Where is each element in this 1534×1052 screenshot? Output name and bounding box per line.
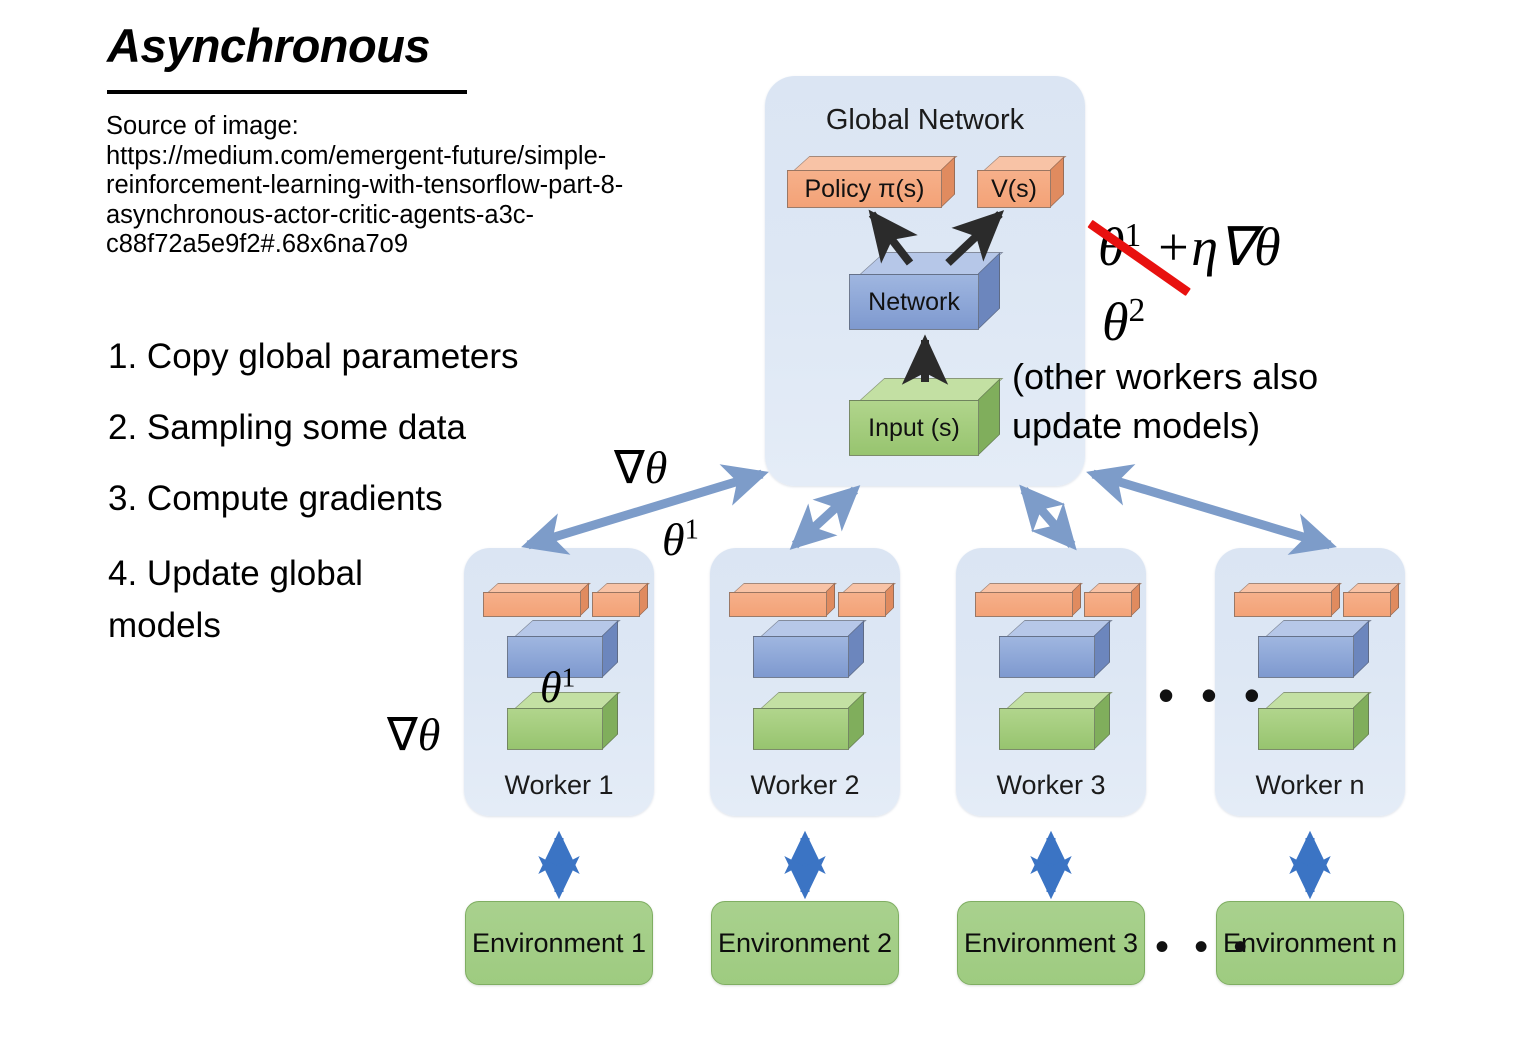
worker-1-value-box [592, 583, 640, 617]
environment-box-3: Environment 3 [957, 901, 1145, 985]
arrow-global-worker-3 [1024, 490, 1072, 545]
step-item-2: 2. Sampling some data [108, 406, 668, 450]
worker-label-n: Worker n [1215, 770, 1405, 801]
worker-label-1: Worker 1 [464, 770, 654, 801]
worker-n-input-face [1258, 708, 1354, 750]
theta-one-worker-label: θ1 [540, 662, 575, 713]
grad-theta-bottom-label: ∇θ [387, 707, 440, 761]
worker-2-network-box [753, 620, 849, 678]
worker-n-network-box [1258, 620, 1354, 678]
equation-replacement: θ2 [1102, 291, 1145, 353]
step-item-3: 3. Compute gradients [108, 477, 668, 521]
worker-1-value-face [592, 592, 640, 617]
worker-3-network-box [999, 620, 1095, 678]
worker-3-input-face [999, 708, 1095, 750]
worker-3-value-box [1084, 583, 1132, 617]
worker-1-policy-box [483, 583, 581, 617]
worker-2-policy-box [729, 583, 827, 617]
worker-n-network-face [1258, 636, 1354, 678]
source-label: Source of image: [106, 112, 299, 140]
theta-worker-exponent: 1 [562, 662, 576, 692]
global-network-label: Global Network [765, 104, 1085, 137]
arrow-global-worker-2 [795, 490, 855, 545]
worker-label-3: Worker 3 [956, 770, 1146, 801]
workers-ellipsis: • • • [1158, 668, 1267, 722]
equation-line: θ1 +η∇θ [1098, 215, 1281, 278]
worker-n-value-face [1343, 592, 1391, 617]
theta-one-arrow-label: θ1 [662, 513, 699, 566]
source-credit: Source of image: https://medium.com/emer… [106, 112, 746, 260]
theta-update-equation: θ1 +η∇θ θ2 [1098, 215, 1281, 278]
worker-n-input-box [1258, 692, 1354, 750]
worker-2-network-face [753, 636, 849, 678]
network-box-label: Network [849, 274, 979, 330]
input-box: Input (s) [849, 378, 979, 456]
policy-box-top-face [794, 156, 958, 170]
grad-theta-top-label: ∇θ [614, 440, 667, 494]
environment-box-1: Environment 1 [465, 901, 653, 985]
title-underline [107, 90, 467, 94]
worker-3-network-face [999, 636, 1095, 678]
worker-label-2: Worker 2 [710, 770, 900, 801]
policy-box: Policy π(s) [787, 156, 942, 208]
source-url: https://medium.com/emergent-future/simpl… [106, 142, 623, 259]
worker-n-policy-face [1234, 592, 1332, 617]
worker-2-input-box [753, 692, 849, 750]
network-box: Network [849, 252, 979, 330]
worker-2-policy-top [734, 583, 837, 592]
worker-1-policy-face [483, 592, 581, 617]
environment-box-2: Environment 2 [711, 901, 899, 985]
value-box-label: V(s) [977, 170, 1051, 208]
policy-box-label: Policy π(s) [787, 170, 942, 208]
worker-n-policy-box [1234, 583, 1332, 617]
worker-1-input-face [507, 708, 603, 750]
worker-3-policy-box [975, 583, 1073, 617]
step-item-4: 4. Update global models [108, 548, 438, 652]
worker-1-policy-top [488, 583, 591, 592]
worker-2-input-face [753, 708, 849, 750]
worker-2-value-face [838, 592, 886, 617]
worker-3-policy-top [980, 583, 1083, 592]
page-title: Asynchronous [107, 18, 430, 73]
environments-ellipsis: • • • [1155, 925, 1254, 970]
worker-2-value-box [838, 583, 886, 617]
worker-3-value-face [1084, 592, 1132, 617]
worker-n-policy-top [1239, 583, 1342, 592]
worker-n-value-box [1343, 583, 1391, 617]
arrow-global-worker-n [1093, 474, 1330, 545]
worker-3-input-box [999, 692, 1095, 750]
slide-canvas: Asynchronous Source of image: https://me… [0, 0, 1534, 1052]
theta-arrow-exponent: 1 [685, 515, 699, 546]
value-box: V(s) [977, 156, 1051, 208]
worker-2-policy-face [729, 592, 827, 617]
equation-theta2-exponent: 2 [1129, 292, 1146, 329]
other-workers-note: (other workers also update models) [1012, 352, 1318, 450]
input-box-label: Input (s) [849, 400, 979, 456]
step-item-1: 1. Copy global parameters [108, 335, 668, 379]
worker-3-policy-face [975, 592, 1073, 617]
